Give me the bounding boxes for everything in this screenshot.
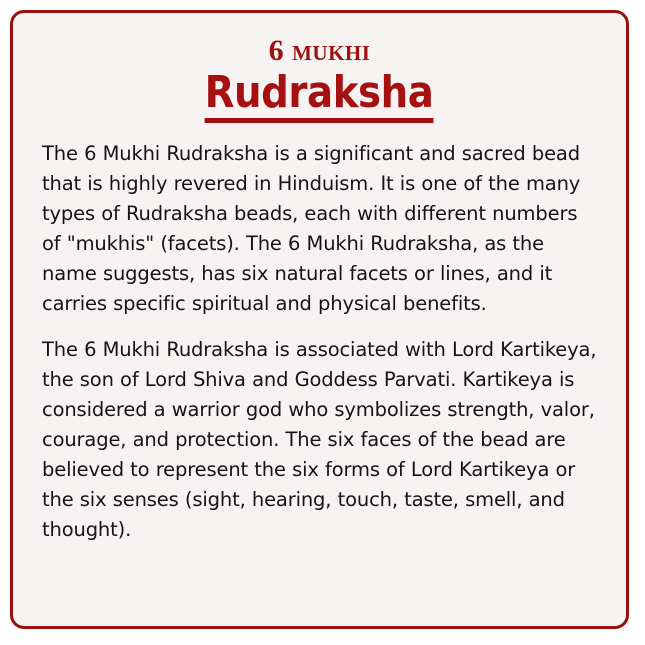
paragraph-1: The 6 Mukhi Rudraksha is a significant a…	[42, 139, 597, 319]
paragraph-2: The 6 Mukhi Rudraksha is associated with…	[42, 335, 597, 545]
card-content: 6 Mukhi Rudraksha The 6 Mukhi Rudraksha …	[13, 13, 626, 626]
body-text: The 6 Mukhi Rudraksha is a significant a…	[42, 139, 597, 545]
page-title: 6 Mukhi Rudraksha	[42, 35, 597, 123]
title-main: Rudraksha	[205, 69, 434, 123]
info-card: 6 Mukhi Rudraksha The 6 Mukhi Rudraksha …	[10, 10, 629, 629]
title-eyebrow: 6 Mukhi	[42, 35, 597, 67]
